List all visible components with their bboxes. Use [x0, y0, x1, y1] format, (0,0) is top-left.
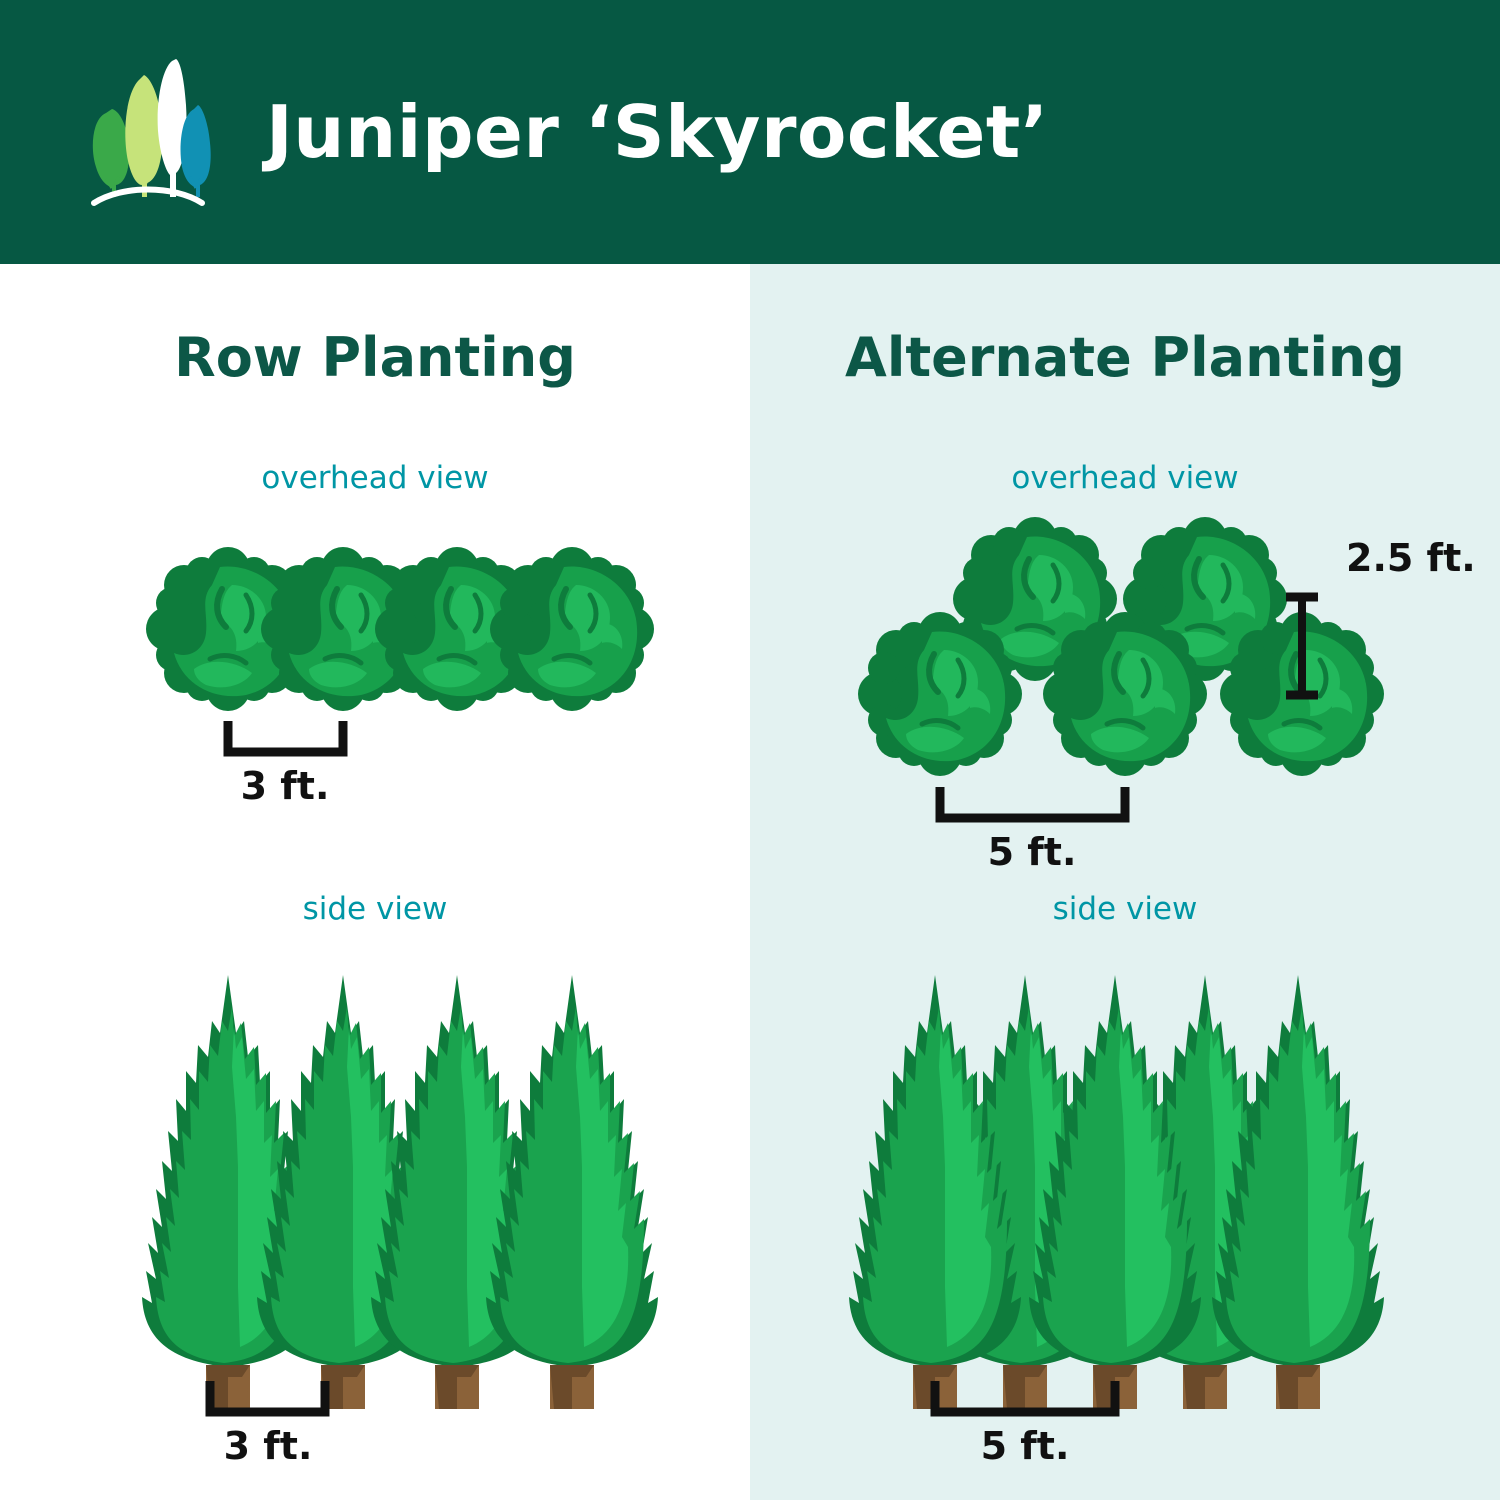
panel-alternate-planting: Alternate Planting overhead view	[750, 264, 1500, 1500]
overhead-view-label-left: overhead view	[0, 460, 750, 496]
column-title-alternate-planting: Alternate Planting	[750, 326, 1500, 389]
dimension-label-side-left: 3 ft.	[224, 1424, 313, 1468]
four-trees-logo	[82, 57, 212, 207]
side-diagram-alternate-planting: 5 ft.	[750, 929, 1500, 1489]
infographic-page: Juniper ‘Skyrocket’ Row Planting overhea…	[0, 0, 1500, 1500]
juniper-staggered-side-view	[849, 975, 1384, 1409]
page-header: Juniper ‘Skyrocket’	[0, 0, 1500, 264]
overhead-diagram-row-planting: 3 ft.	[0, 509, 750, 849]
bush-front-2	[1043, 612, 1207, 776]
column-title-row-planting: Row Planting	[0, 326, 750, 389]
panels-container: Row Planting overhead view	[0, 264, 1500, 1500]
juniper-tree-front-3	[1212, 975, 1384, 1409]
dimension-bracket-overhead-left: 3 ft.	[228, 721, 343, 808]
bush-front-1	[858, 612, 1022, 776]
juniper-tree-front-2	[1029, 975, 1201, 1409]
page-title: Juniper ‘Skyrocket’	[266, 90, 1049, 174]
juniper-tree-front-1	[849, 975, 1021, 1409]
bush-4	[490, 547, 654, 711]
side-view-label-right: side view	[750, 891, 1500, 927]
side-diagram-row-planting: 3 ft.	[0, 929, 750, 1489]
bush-row-top-view	[146, 547, 654, 711]
dimension-label-offset-right: 2.5 ft.	[1346, 536, 1476, 580]
juniper-row-side-view	[142, 975, 658, 1409]
dimension-label-side-right: 5 ft.	[981, 1424, 1070, 1468]
overhead-diagram-alternate-planting: 2.5 ft. 5 ft.	[750, 509, 1500, 849]
side-view-label-left: side view	[0, 891, 750, 927]
dimension-label-overhead-left: 3 ft.	[241, 764, 330, 808]
dimension-label-overhead-right: 5 ft.	[988, 830, 1077, 874]
panel-row-planting: Row Planting overhead view	[0, 264, 750, 1500]
overhead-view-label-right: overhead view	[750, 460, 1500, 496]
dimension-bracket-overhead-right: 5 ft.	[940, 787, 1125, 874]
juniper-tree-4	[486, 975, 658, 1409]
